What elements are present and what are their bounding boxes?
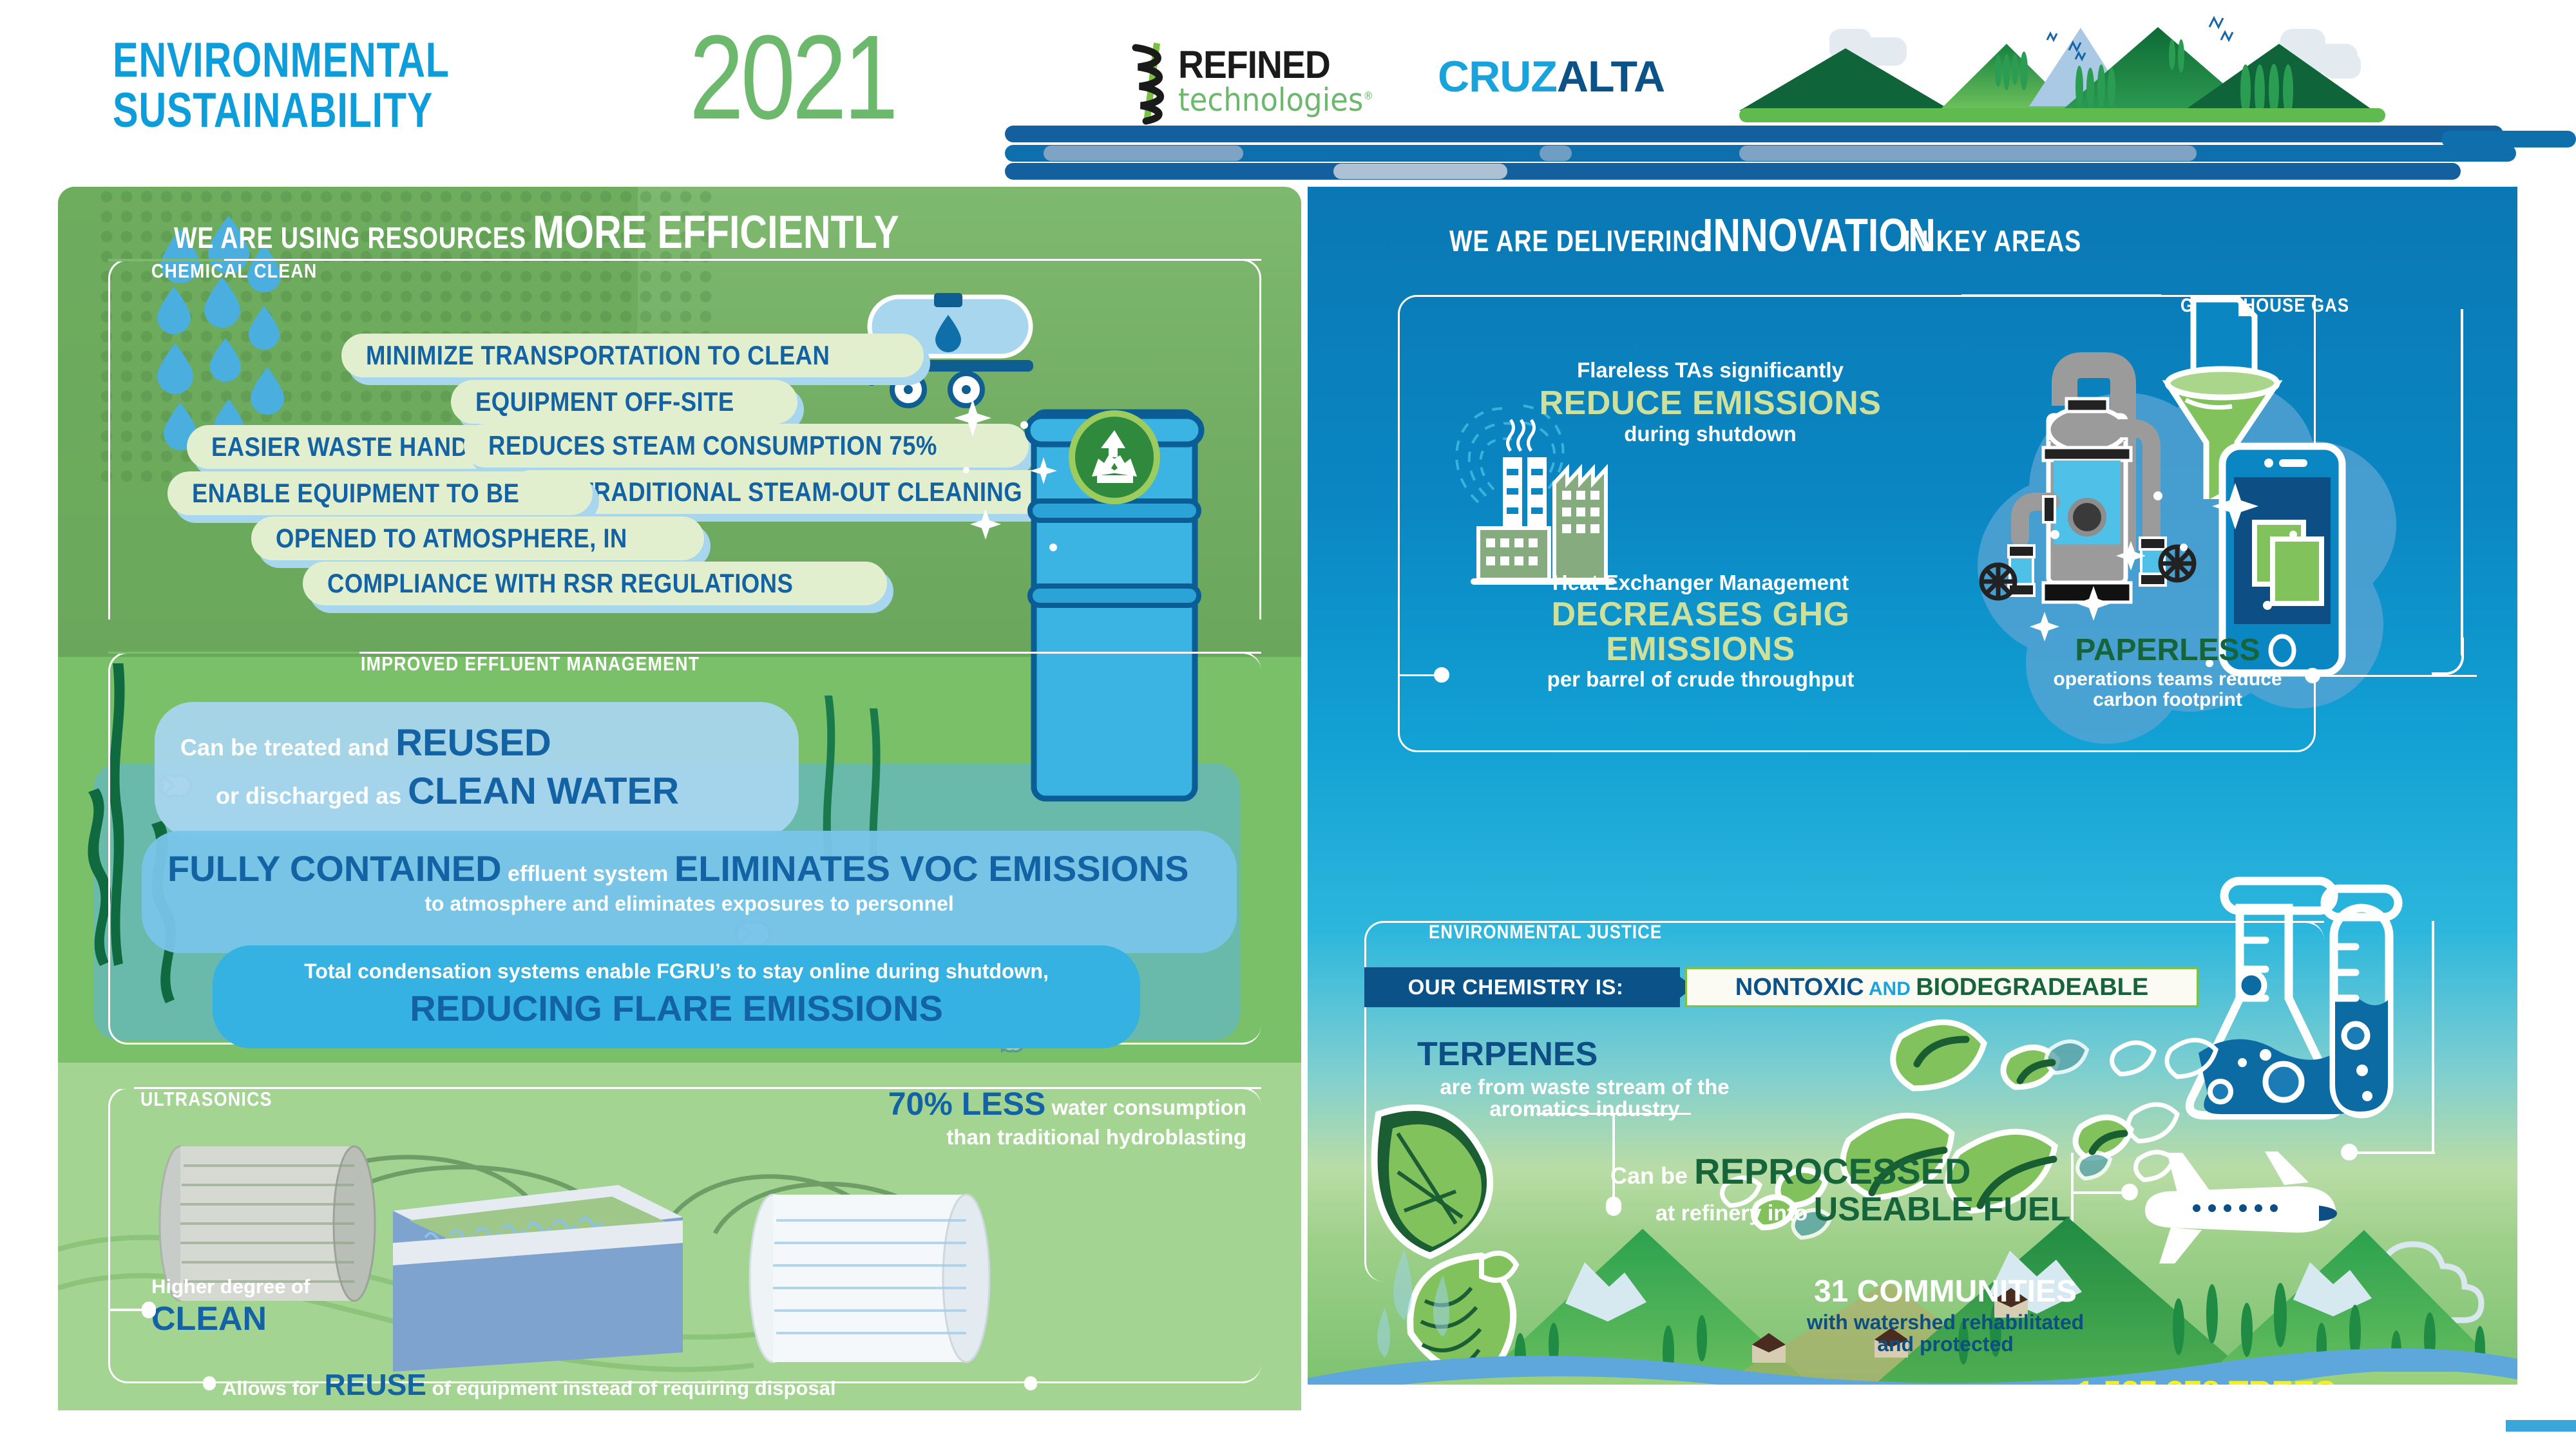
- cruzalta-logo: CRUZALTA: [1438, 52, 1665, 102]
- hx-connector-dot: [1434, 667, 1449, 683]
- right-panel: WE ARE DELIVERING INNOVATION IN KEY AREA…: [1308, 187, 2517, 1385]
- clean-word: CLEAN: [151, 1300, 310, 1338]
- condensation-text: Total condensation systems enable FGRU’s…: [238, 960, 1114, 983]
- clean-prefix: Higher degree of: [151, 1275, 310, 1298]
- chemistry-left-label: OUR CHEMISTRY IS:: [1364, 967, 1667, 1007]
- higher-degree-clean: Higher degree of CLEAN: [151, 1275, 310, 1338]
- paperless-connector-dot: [2305, 668, 2320, 683]
- hx-connector: [1398, 674, 1436, 676]
- communities-number: 31 COMMUNITIES: [1778, 1275, 2113, 1309]
- pill-flare-emissions: Total condensation systems enable FGRU’s…: [213, 945, 1140, 1048]
- environmental-justice-label: ENVIRONMENTAL JUSTICE: [1429, 922, 1662, 943]
- flareless-prefix: Flareless TAs significantly: [1530, 359, 1891, 382]
- stat-water-label: water consumption: [1045, 1095, 1246, 1119]
- flask-connector-horiz: [2351, 1151, 2435, 1154]
- ghg-emissions: EMISSIONS: [1514, 632, 1887, 667]
- pill-fully-contained: FULLY CONTAINED effluent system ELIMINAT…: [142, 831, 1237, 953]
- flareless-block: Flareless TAs significantly REDUCE EMISS…: [1530, 359, 1891, 446]
- paperless-line1: operations teams reduce: [2032, 669, 2303, 690]
- left-heading-large: MORE EFFICIENTLY: [533, 206, 899, 259]
- reuse-suffix: of equipment instead of requiring dispos…: [426, 1377, 836, 1399]
- paperless-connector: [2309, 675, 2477, 677]
- allows-reuse-text: Allows for REUSE of equipment instead of…: [222, 1367, 835, 1402]
- reuse-dot-right: [1024, 1376, 1037, 1390]
- header: ENVIRONMENTAL SUSTAINABILITY 2021 REFINE…: [0, 0, 2576, 187]
- header-bar-1: [1005, 126, 2503, 142]
- decreases-ghg: DECREASES GHG: [1514, 597, 1887, 632]
- clean-connector-dot: [142, 1302, 156, 1318]
- cleanwater-prefix: or discharged as: [216, 782, 408, 809]
- voc-sub: to atmosphere and eliminates exposures t…: [425, 892, 954, 915]
- reuse-word: REUSE: [324, 1368, 426, 1401]
- reduce-emissions: REDUCE EMISSIONS: [1530, 386, 1891, 421]
- left-heading-small: WE ARE USING RESOURCES: [174, 220, 526, 255]
- reproc-prefix: Can be: [1610, 1162, 1694, 1189]
- chemical-clean-label: CHEMICAL CLEAN: [151, 260, 318, 283]
- refined-helix-icon: [1124, 41, 1182, 125]
- infographic-page: ENVIRONMENTAL SUSTAINABILITY 2021 REFINE…: [0, 0, 2576, 1449]
- pill-minimize-transport: MINIMIZE TRANSPORTATION TO CLEAN: [341, 334, 924, 377]
- ultrasonics-label: ULTRASONICS: [140, 1088, 272, 1111]
- year-label: 2021: [689, 18, 895, 138]
- communities-line2: and protected: [1778, 1333, 2113, 1356]
- effluent-label: IMPROVED EFFLUENT MANAGEMENT: [361, 652, 700, 676]
- eliminates-voc: ELIMINATES VOC EMISSIONS: [674, 848, 1189, 889]
- stat-communities: 31 COMMUNITIES with watershed rehabilita…: [1778, 1275, 2113, 1356]
- pill-opened-atmosphere: OPENED TO ATMOSPHERE, IN: [251, 516, 704, 560]
- title-line-2: SUSTAINABILITY: [113, 86, 450, 136]
- pill-enable-equipment: ENABLE EQUIPMENT TO BE: [167, 471, 593, 515]
- reused-prefix: Can be treated and: [180, 734, 396, 761]
- reuse-prefix: Allows for: [222, 1377, 324, 1399]
- left-panel-heading: WE ARE USING RESOURCESMORE EFFICIENTLY: [174, 206, 979, 259]
- header-bar-6: [1005, 163, 2461, 180]
- trees-number: 1,527,378 TREES: [2039, 1375, 2374, 1385]
- header-bar-7: [1333, 164, 1507, 179]
- pill-reused-cleanwater: Can be treated and REUSED or discharged …: [155, 702, 799, 837]
- sparkle-icon: [947, 380, 1076, 650]
- header-bar-5: [1739, 146, 2197, 161]
- refined-technologies-logo: REFINED technologies®: [1124, 39, 1395, 129]
- flask-connector-vert: [2432, 921, 2434, 1153]
- effluent-system: effluent system: [502, 862, 674, 886]
- header-bar-8: [1540, 146, 1572, 161]
- right-heading-small-a: WE ARE DELIVERING: [1449, 223, 1710, 258]
- stat-water-consumption: 70% LESS water consumption than traditio…: [886, 1085, 1246, 1150]
- header-bar-4: [1044, 146, 1243, 161]
- hx-title: Heat Exchanger Management: [1514, 572, 1887, 594]
- reprocessed-word: REPROCESSED: [1694, 1151, 1970, 1191]
- pill-compliance-rsr: COMPLIANCE WITH RSR REGULATIONS: [303, 562, 887, 605]
- right-heading-small-b: IN KEY AREAS: [1903, 223, 2081, 258]
- pill-reduces-steam: REDUCES STEAM CONSUMPTION 75%: [464, 424, 1029, 468]
- pill-equipment-offsite: EQUIPMENT OFF-SITE: [451, 380, 797, 424]
- fully-contained: FULLY CONTAINED: [167, 848, 502, 889]
- refined-wordmark: REFINED: [1178, 43, 1373, 87]
- frame-notch-3: [108, 1087, 134, 1089]
- bottom-accent-bar: [2506, 1420, 2576, 1432]
- stat-70-less: 70% LESS: [888, 1086, 1046, 1122]
- reducing-flare: REDUCING FLARE EMISSIONS: [238, 987, 1114, 1029]
- alta-wordmark: ALTA: [1557, 52, 1665, 101]
- reuse-dot-left: [203, 1376, 216, 1390]
- technologies-wordmark: technologies®: [1178, 82, 1373, 118]
- effluent-rule: [638, 652, 1261, 654]
- per-barrel: per barrel of crude throughput: [1514, 668, 1887, 691]
- clean-connector: [108, 1309, 147, 1311]
- frame-notch-2: [108, 652, 359, 654]
- page-title: ENVIRONMENTAL SUSTAINABILITY: [113, 35, 544, 137]
- paperless-block: PAPERLESS operations teams reduce carbon…: [2032, 634, 2303, 710]
- ghg-vertical-rule: [2461, 309, 2463, 657]
- during-shutdown: during shutdown: [1530, 423, 1891, 446]
- ej-frame-gap: [1364, 921, 1429, 923]
- left-panel: WE ARE USING RESOURCESMORE EFFICIENTLY C…: [58, 187, 1301, 1410]
- stat-hydroblasting: than traditional hydroblasting: [886, 1125, 1246, 1150]
- stat-trees: 1,527,378 TREES planted / regenerated: [2039, 1375, 2374, 1385]
- heat-exchanger-block: Heat Exchanger Management DECREASES GHG …: [1514, 572, 1887, 690]
- right-heading-large: INNOVATION: [1703, 209, 1936, 262]
- title-line-1: ENVIRONMENTAL: [113, 35, 450, 86]
- reused-word: REUSED: [396, 722, 551, 764]
- paperless-line2: carbon footprint: [2032, 690, 2303, 710]
- right-panel-heading: WE ARE DELIVERING INNOVATION IN KEY AREA…: [1449, 209, 2120, 262]
- communities-line1: with watershed rehabilitated: [1778, 1311, 2113, 1334]
- cruz-wordmark: CRUZ: [1438, 52, 1557, 101]
- paperless-title: PAPERLESS: [2032, 634, 2303, 667]
- chemical-clean-rule: [435, 259, 1261, 261]
- header-bars: [1005, 126, 2576, 187]
- cleanwater-word: CLEAN WATER: [408, 770, 679, 812]
